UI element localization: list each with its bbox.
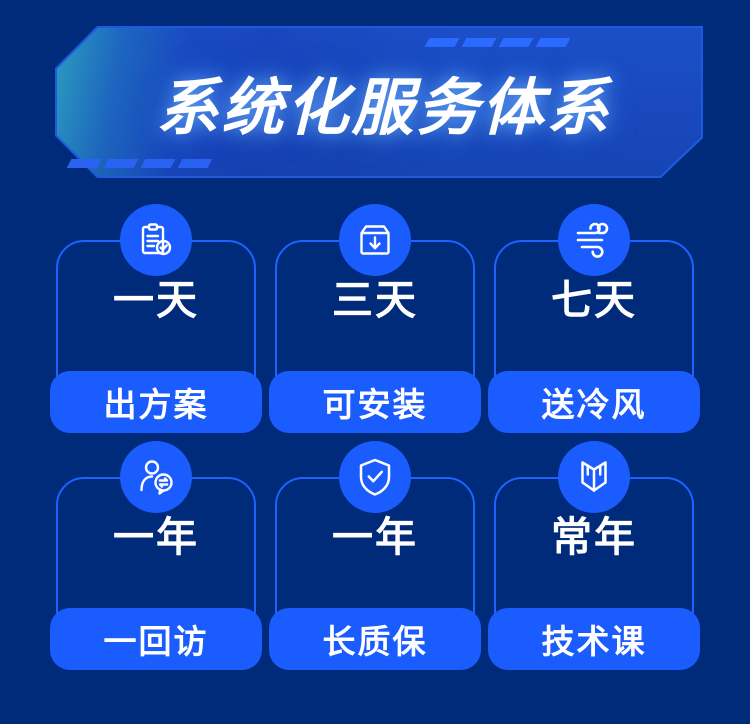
- service-card[interactable]: 一天 出方案: [56, 240, 256, 415]
- card-title: 常年: [496, 517, 692, 558]
- page-title: 系统化服务体系: [55, 57, 703, 147]
- shield-check-icon: [339, 441, 411, 513]
- dash-mark: [178, 159, 213, 168]
- dash-mark: [499, 38, 534, 47]
- card-pill-label[interactable]: 出方案: [50, 371, 262, 433]
- dash-mark: [67, 159, 102, 168]
- banner-dashes-bottom: [69, 159, 210, 168]
- card-title: 三天: [277, 280, 473, 321]
- service-card[interactable]: 一年 一回访: [56, 477, 256, 652]
- dash-mark: [462, 38, 497, 47]
- card-title: 一年: [58, 517, 254, 558]
- service-card[interactable]: 七天 送冷风: [494, 240, 694, 415]
- service-card[interactable]: 三天 可安装: [275, 240, 475, 415]
- open-book-icon: [558, 441, 630, 513]
- clipboard-check-icon: [120, 204, 192, 276]
- wind-icon: [558, 204, 630, 276]
- banner-dashes-top: [427, 38, 568, 47]
- card-pill-label[interactable]: 一回访: [50, 608, 262, 670]
- service-card[interactable]: 一年 长质保: [275, 477, 475, 652]
- card-title: 一天: [58, 280, 254, 321]
- service-card-grid: 一天 出方案 三天 可安装 七天 送冷风: [56, 240, 694, 652]
- card-title: 一年: [277, 517, 473, 558]
- dash-mark: [536, 38, 571, 47]
- dash-mark: [425, 38, 460, 47]
- card-title: 七天: [496, 280, 692, 321]
- box-download-icon: [339, 204, 411, 276]
- title-banner: 系统化服务体系: [55, 26, 703, 178]
- card-pill-label[interactable]: 长质保: [269, 608, 481, 670]
- card-pill-label[interactable]: 可安装: [269, 371, 481, 433]
- person-feedback-icon: [120, 441, 192, 513]
- dash-mark: [104, 159, 139, 168]
- card-pill-label[interactable]: 技术课: [488, 608, 700, 670]
- dash-mark: [141, 159, 176, 168]
- card-pill-label[interactable]: 送冷风: [488, 371, 700, 433]
- service-card[interactable]: 常年 技术课: [494, 477, 694, 652]
